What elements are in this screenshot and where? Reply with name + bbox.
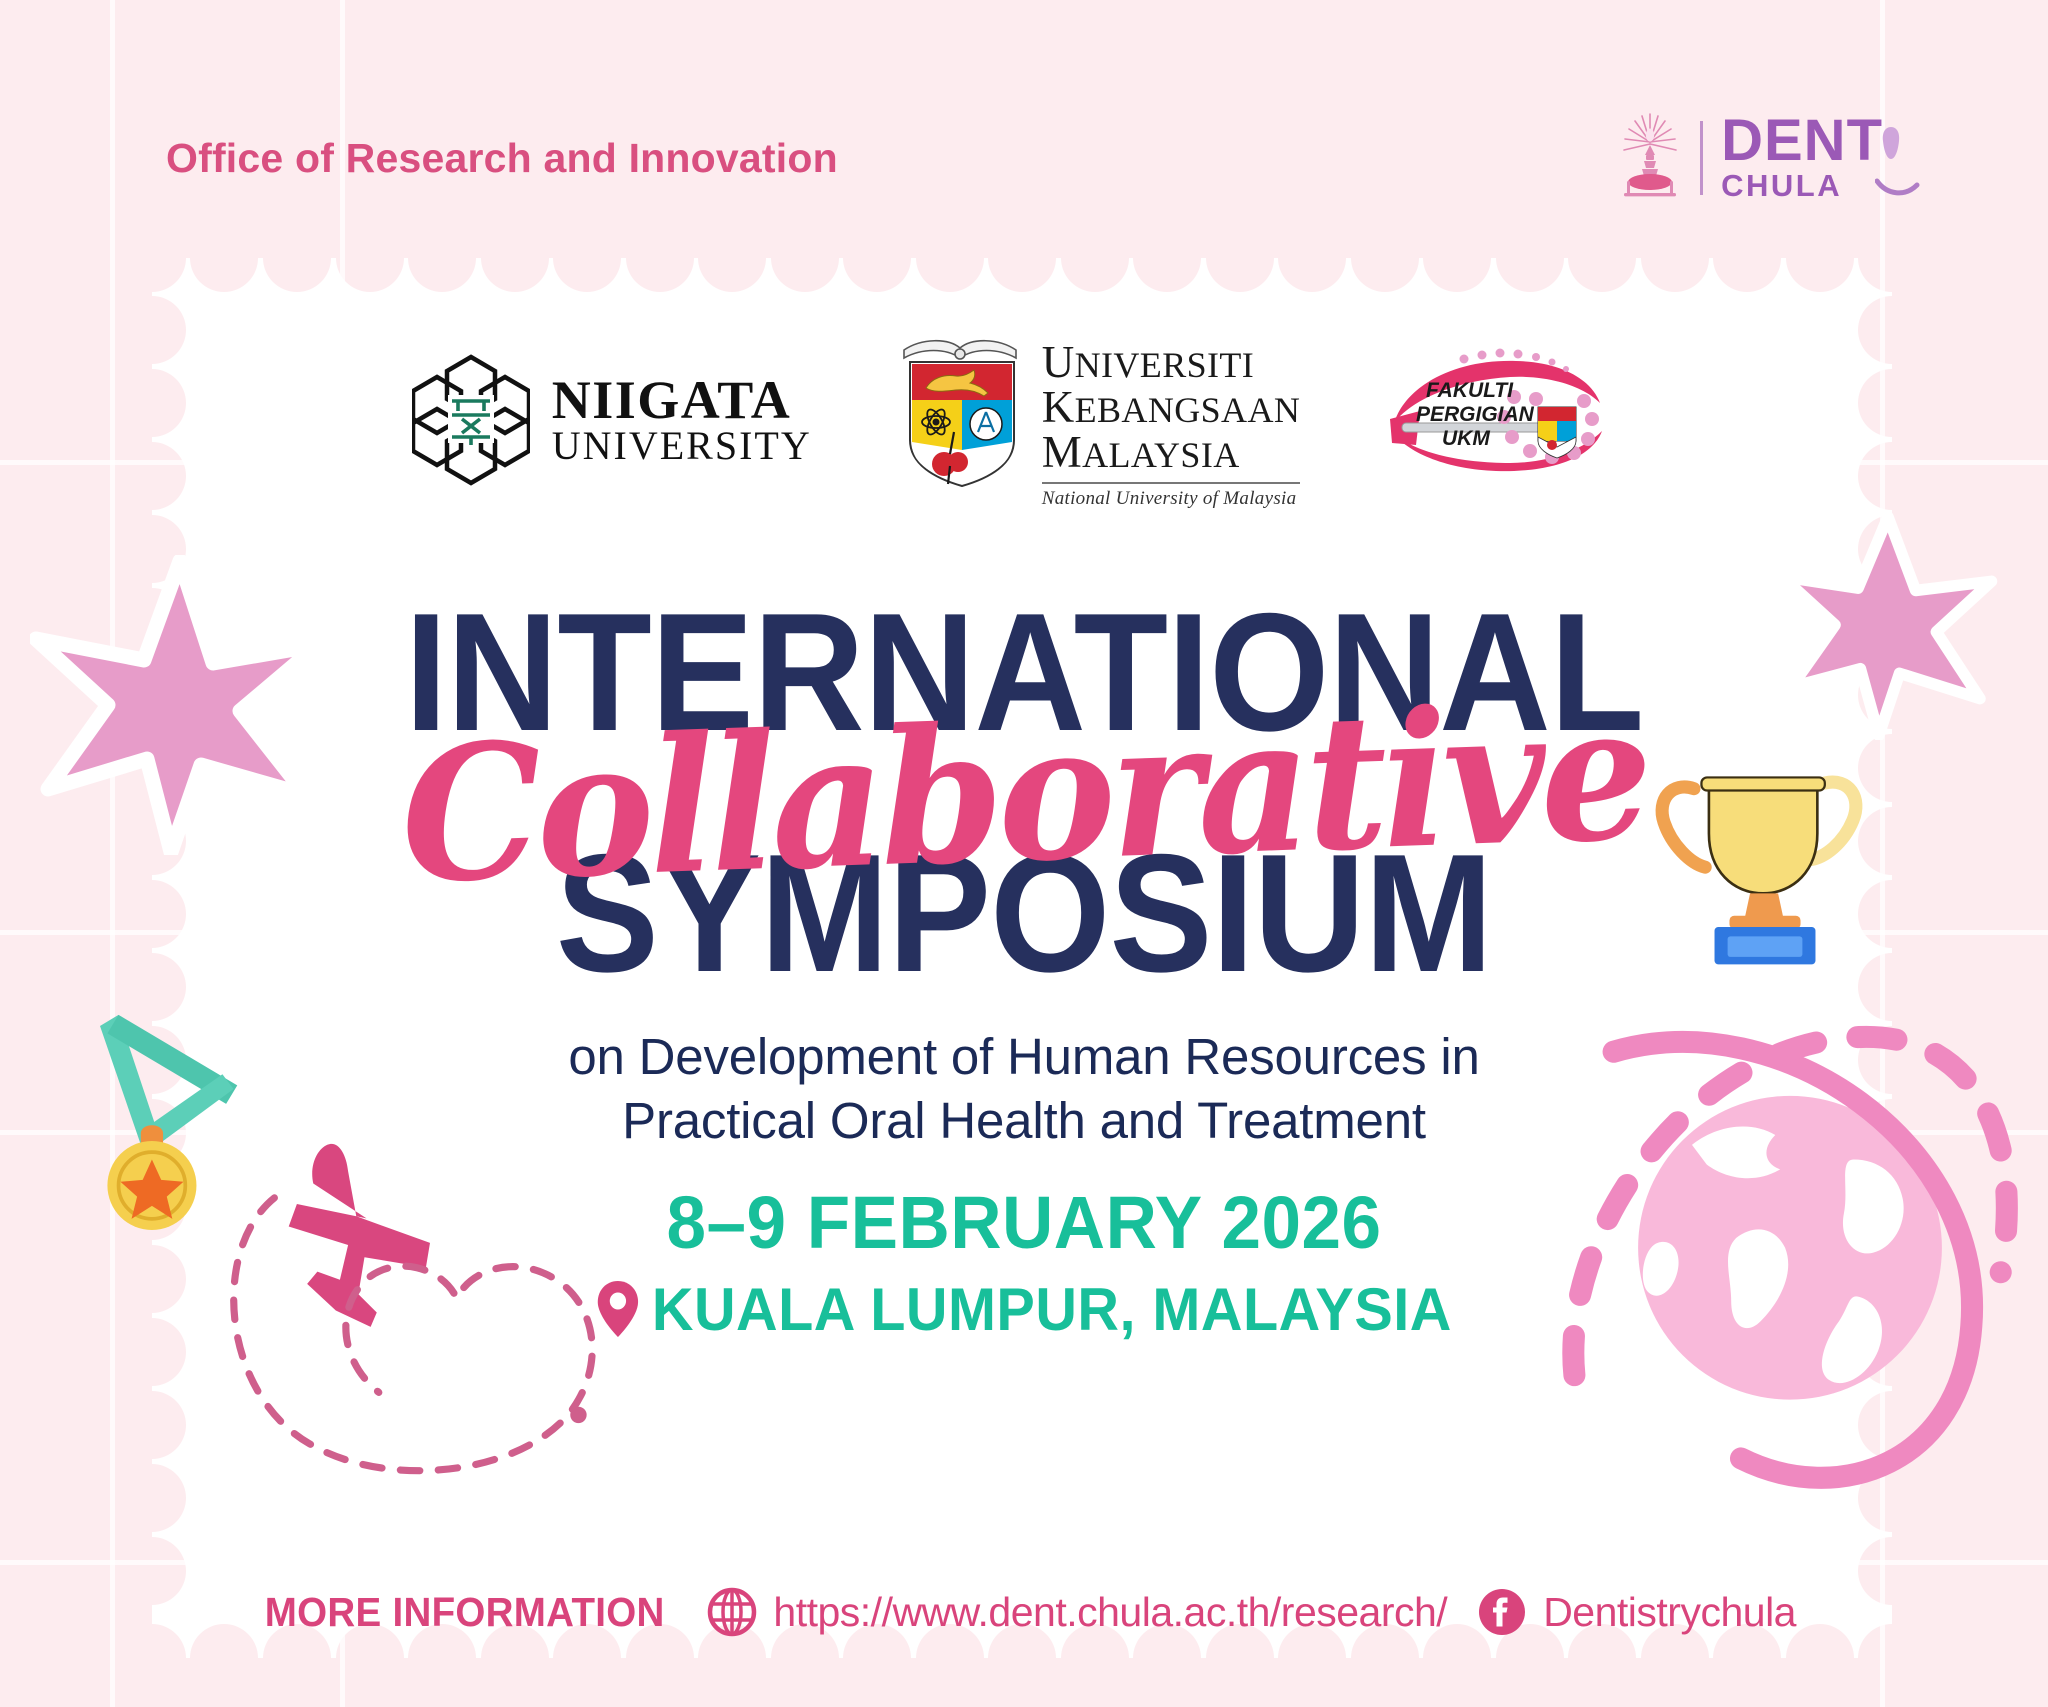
svg-text:FAKULTI: FAKULTI [1426,379,1514,402]
dent-chula-logo: DENT CHULA [1618,112,1883,204]
facebook-link[interactable]: Dentistrychula [1477,1587,1796,1637]
ukm-line3-rest: ALAYSIA [1082,435,1240,475]
ukm-line2-cap: K [1042,382,1075,432]
subtitle: on Development of Human Resources in Pra… [0,1025,2048,1154]
ukm-line1-rest: NIVERSITI [1075,345,1255,385]
fakulti-pergigian-ukm-logo: FAKULTI PERGIGIAN UKM [1386,345,1636,495]
website-url[interactable]: https://www.dent.chula.ac.th/research/ [773,1589,1447,1636]
niigata-university-logo: NIIGATA UNIVERSITY [412,353,812,487]
universiti-kebangsaan-malaysia-logo: UNIVERSITI KEBANGSAAN MALAYSIA National … [898,332,1301,508]
subtitle-line-1: on Development of Human Resources in [0,1025,2048,1089]
poster-header: Office of Research and Innovation [0,0,2048,260]
niigata-hex-icon [412,353,530,487]
niigata-wordmark: NIIGATA UNIVERSITY [552,375,812,464]
ukm-crest-icon [898,332,1026,492]
chula-emblem-icon [1618,112,1682,204]
partner-logos-row: NIIGATA UNIVERSITY [0,325,2048,515]
poster-footer: MORE INFORMATION https://www.dent.chula.… [0,1587,2048,1637]
svg-text:PERGIGIAN: PERGIGIAN [1416,403,1535,426]
facebook-handle[interactable]: Dentistrychula [1543,1589,1796,1636]
subtitle-line-2: Practical Oral Health and Treatment [0,1089,2048,1153]
ukm-line1-cap: U [1042,337,1075,387]
ukm-line-3: MALAYSIA [1042,430,1301,475]
facebook-icon [1477,1587,1527,1637]
tooth-swoosh-icon [1875,119,1945,229]
ukm-tagline: National University of Malaysia [1042,489,1301,508]
globe-icon [707,1587,757,1637]
title-block: INTERNATIONAL Collaborative SYMPOSIUM on… [0,600,2048,1344]
fakulti-pergigian-ukm-icon: FAKULTI PERGIGIAN UKM [1386,345,1636,495]
event-date: 8–9 FEBRUARY 2026 [41,1180,2007,1265]
dent-word: DENT [1721,113,1883,169]
logo-divider [1700,121,1703,195]
ukm-wordmark: UNIVERSITI KEBANGSAAN MALAYSIA National … [1042,332,1301,508]
event-location-row: KUALA LUMPUR, MALAYSIA [41,1275,2007,1344]
dent-wordmark: DENT CHULA [1721,113,1883,203]
website-link[interactable]: https://www.dent.chula.ac.th/research/ [707,1587,1447,1637]
chula-word: CHULA [1721,169,1883,203]
ukm-line-2: KEBANGSAAN [1042,385,1301,430]
ukm-line2-rest: EBANGSAAN [1075,390,1301,430]
ukm-line-1: UNIVERSITI [1042,340,1301,385]
ukm-divider [1042,482,1301,484]
niigata-name-main: NIIGATA [552,375,812,426]
svg-text:UKM: UKM [1442,427,1490,450]
poster-root: Office of Research and Innovation [0,0,2048,1707]
event-location-text: KUALA LUMPUR, MALAYSIA [652,1275,1452,1344]
niigata-name-sub: UNIVERSITY [552,427,812,465]
office-label: Office of Research and Innovation [166,135,838,182]
more-information-label: MORE INFORMATION [265,1589,665,1636]
ukm-line3-cap: M [1042,427,1082,477]
map-pin-icon [596,1279,640,1339]
